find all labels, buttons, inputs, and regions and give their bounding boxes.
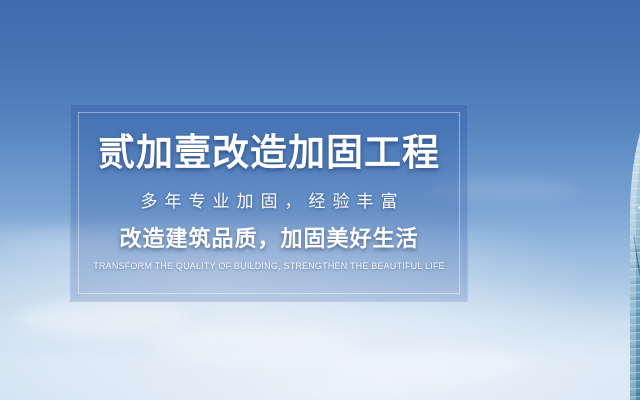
cloud-wisp: [18, 300, 188, 334]
subheadline: 多年专业加固，经验丰富: [134, 192, 405, 212]
slogan: 改造建筑品质，加固美好生活: [119, 226, 418, 252]
headline-panel: 贰加壹改造加固工程 多年专业加固，经验丰富 改造建筑品质，加固美好生活 TRAN…: [70, 104, 468, 302]
cloud-wisp: [150, 326, 360, 366]
english-tagline: TRANSFORM THE QUALITY OF BUILDING, STREN…: [93, 261, 445, 272]
promo-banner: 贰加壹改造加固工程 多年专业加固，经验丰富 改造建筑品质，加固美好生活 TRAN…: [0, 0, 640, 400]
skyscraper-icon: [546, 46, 640, 400]
headline-copy-block: 贰加壹改造加固工程 多年专业加固，经验丰富 改造建筑品质，加固美好生活 TRAN…: [70, 104, 468, 302]
page-title: 贰加壹改造加固工程: [98, 134, 440, 173]
cloud-wisp: [330, 346, 530, 382]
